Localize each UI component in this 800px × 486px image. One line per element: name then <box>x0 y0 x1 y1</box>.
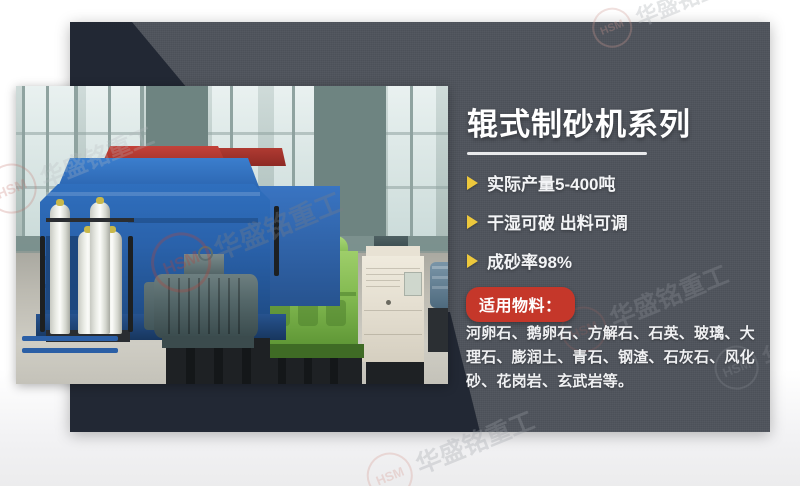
machine-stand <box>428 308 448 352</box>
motor-fin <box>238 278 240 334</box>
poster-canvas: HSM 华盛铭重工 HSM 华盛铭重工 <box>0 0 800 486</box>
blue-pipe <box>22 348 118 353</box>
hsm-seal-icon: HSM <box>360 446 420 486</box>
gas-cylinder <box>50 204 70 334</box>
window-mullion <box>22 86 25 236</box>
blue-pipe <box>22 336 118 341</box>
cabinet-louver <box>366 268 420 269</box>
far-motor-fin <box>432 286 448 289</box>
cylinder-brace <box>46 218 134 222</box>
cylinder-valve-icon <box>96 197 104 204</box>
motor-fin <box>178 278 180 334</box>
title-underline <box>467 152 647 155</box>
cabinet-seam <box>364 310 422 311</box>
feature-label: 干湿可破 出料可调 <box>487 209 628 234</box>
feature-label: 实际产量5-400吨 <box>487 170 615 195</box>
feature-item-1: 实际产量5-400吨 <box>467 170 615 195</box>
arrow-right-icon <box>467 176 478 190</box>
far-motor-fin <box>432 276 448 279</box>
product-photo: HSM 华盛铭重工 HSM 华盛铭重工 <box>16 86 448 384</box>
feature-label: 成砂率98% <box>487 248 572 273</box>
motor-fin <box>208 278 210 334</box>
motor-fin <box>188 278 190 334</box>
arrow-right-icon <box>467 254 478 268</box>
motor-fin <box>228 278 230 334</box>
motor-fin <box>168 278 170 334</box>
gearbox-base <box>260 344 364 358</box>
window-mullion <box>410 86 413 236</box>
materials-badge: 适用物料： <box>466 287 575 322</box>
cabinet-knob <box>386 300 391 305</box>
cabinet-louver <box>366 286 400 287</box>
body-seam <box>128 218 258 223</box>
body-highlight <box>46 192 260 196</box>
motor-fin <box>218 278 220 334</box>
motor-fin <box>198 278 200 334</box>
cabinet-seam <box>364 334 422 335</box>
feature-item-2: 干湿可破 出料可调 <box>467 209 628 234</box>
hose <box>128 236 133 332</box>
materials-list: 河卵石、鹅卵石、方解石、石英、玻璃、大理石、膨润土、青石、钢渣、石灰石、风化砂、… <box>466 322 764 394</box>
cylinder-valve-icon <box>56 199 64 206</box>
hose <box>40 236 45 332</box>
feature-item-3: 成砂率98% <box>467 248 572 273</box>
page-title: 辊式制砂机系列 <box>467 99 691 144</box>
hose <box>274 206 279 276</box>
cabinet-louver <box>366 280 400 281</box>
lifting-eye-icon <box>198 246 213 261</box>
cabinet-gauge-panel <box>404 272 422 296</box>
far-motor-fin <box>432 266 448 269</box>
arrow-right-icon <box>467 215 478 229</box>
motor-base <box>162 336 254 348</box>
